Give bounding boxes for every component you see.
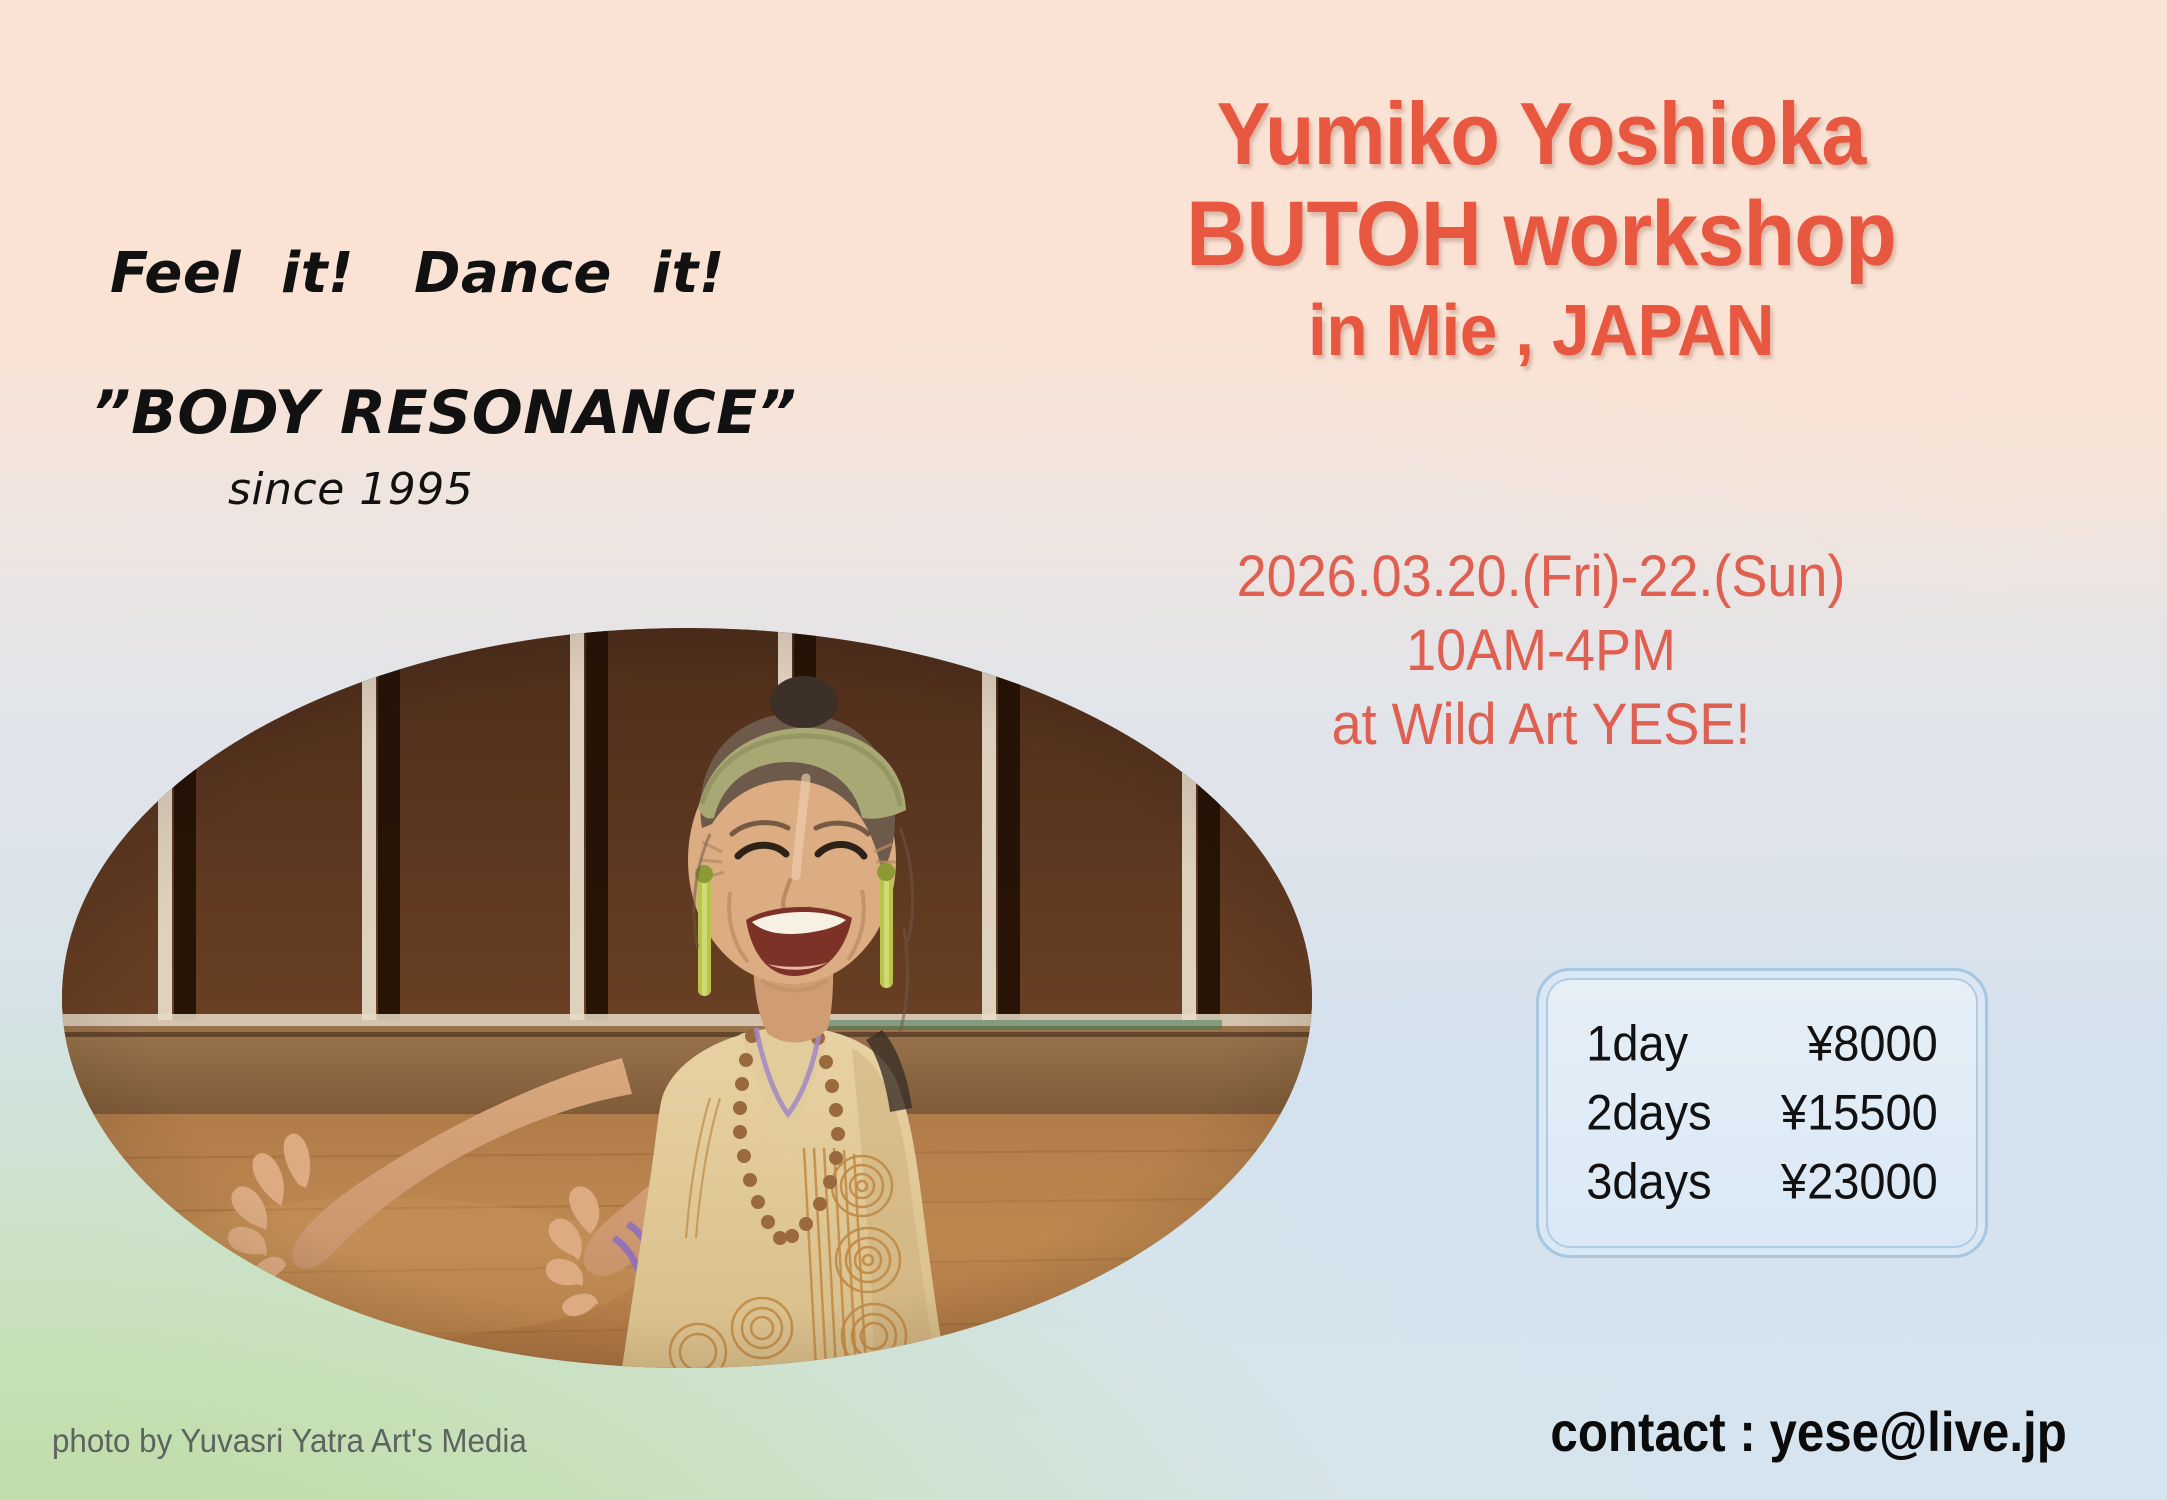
dancer-photo-illustration bbox=[62, 628, 1312, 1368]
dancer-photo bbox=[62, 628, 1312, 1368]
schedule-venue: at Wild Art YESE! bbox=[1048, 688, 2034, 762]
title-workshop: BUTOH workshop bbox=[1053, 186, 2028, 284]
pricing-box: 1day ¥8000 2days ¥15500 3days ¥23000 bbox=[1536, 968, 1988, 1258]
pricing-label: 3days bbox=[1586, 1148, 1711, 1217]
pricing-row: 2days ¥15500 bbox=[1586, 1079, 1938, 1148]
pricing-label: 1day bbox=[1586, 1010, 1688, 1079]
photo-credit: photo by Yuvasri Yatra Art's Media bbox=[52, 1422, 527, 1460]
pricing-value: ¥23000 bbox=[1781, 1148, 1938, 1217]
pricing-value: ¥8000 bbox=[1807, 1010, 1938, 1079]
schedule-block: 2026.03.20.(Fri)-22.(Sun) 10AM-4PM at Wi… bbox=[1011, 540, 2071, 763]
tagline-feel-dance: Feel it! Dance it! bbox=[110, 245, 930, 304]
poster-canvas: Feel it! Dance it! ”BODY RESONANCE” sinc… bbox=[0, 0, 2167, 1500]
tagline-since: since 1995 bbox=[228, 467, 930, 513]
schedule-time: 10AM-4PM bbox=[1048, 614, 2034, 688]
title-block: Yumiko Yoshioka BUTOH workshop in Mie , … bbox=[1011, 88, 2071, 371]
tagline-body-resonance: ”BODY RESONANCE” bbox=[92, 382, 930, 445]
contact-line[interactable]: contact : yese@live.jp bbox=[1551, 1399, 2067, 1464]
title-artist-name: Yumiko Yoshioka bbox=[1053, 88, 2028, 180]
pricing-label: 2days bbox=[1586, 1079, 1711, 1148]
tagline-block: Feel it! Dance it! ”BODY RESONANCE” sinc… bbox=[110, 245, 930, 513]
pricing-row: 3days ¥23000 bbox=[1586, 1148, 1938, 1217]
schedule-dates: 2026.03.20.(Fri)-22.(Sun) bbox=[1048, 540, 2034, 614]
pricing-row: 1day ¥8000 bbox=[1586, 1010, 1938, 1079]
pricing-rows: 1day ¥8000 2days ¥15500 3days ¥23000 bbox=[1539, 1010, 1985, 1217]
title-location: in Mie , JAPAN bbox=[1043, 293, 2039, 371]
pricing-value: ¥15500 bbox=[1781, 1079, 1938, 1148]
